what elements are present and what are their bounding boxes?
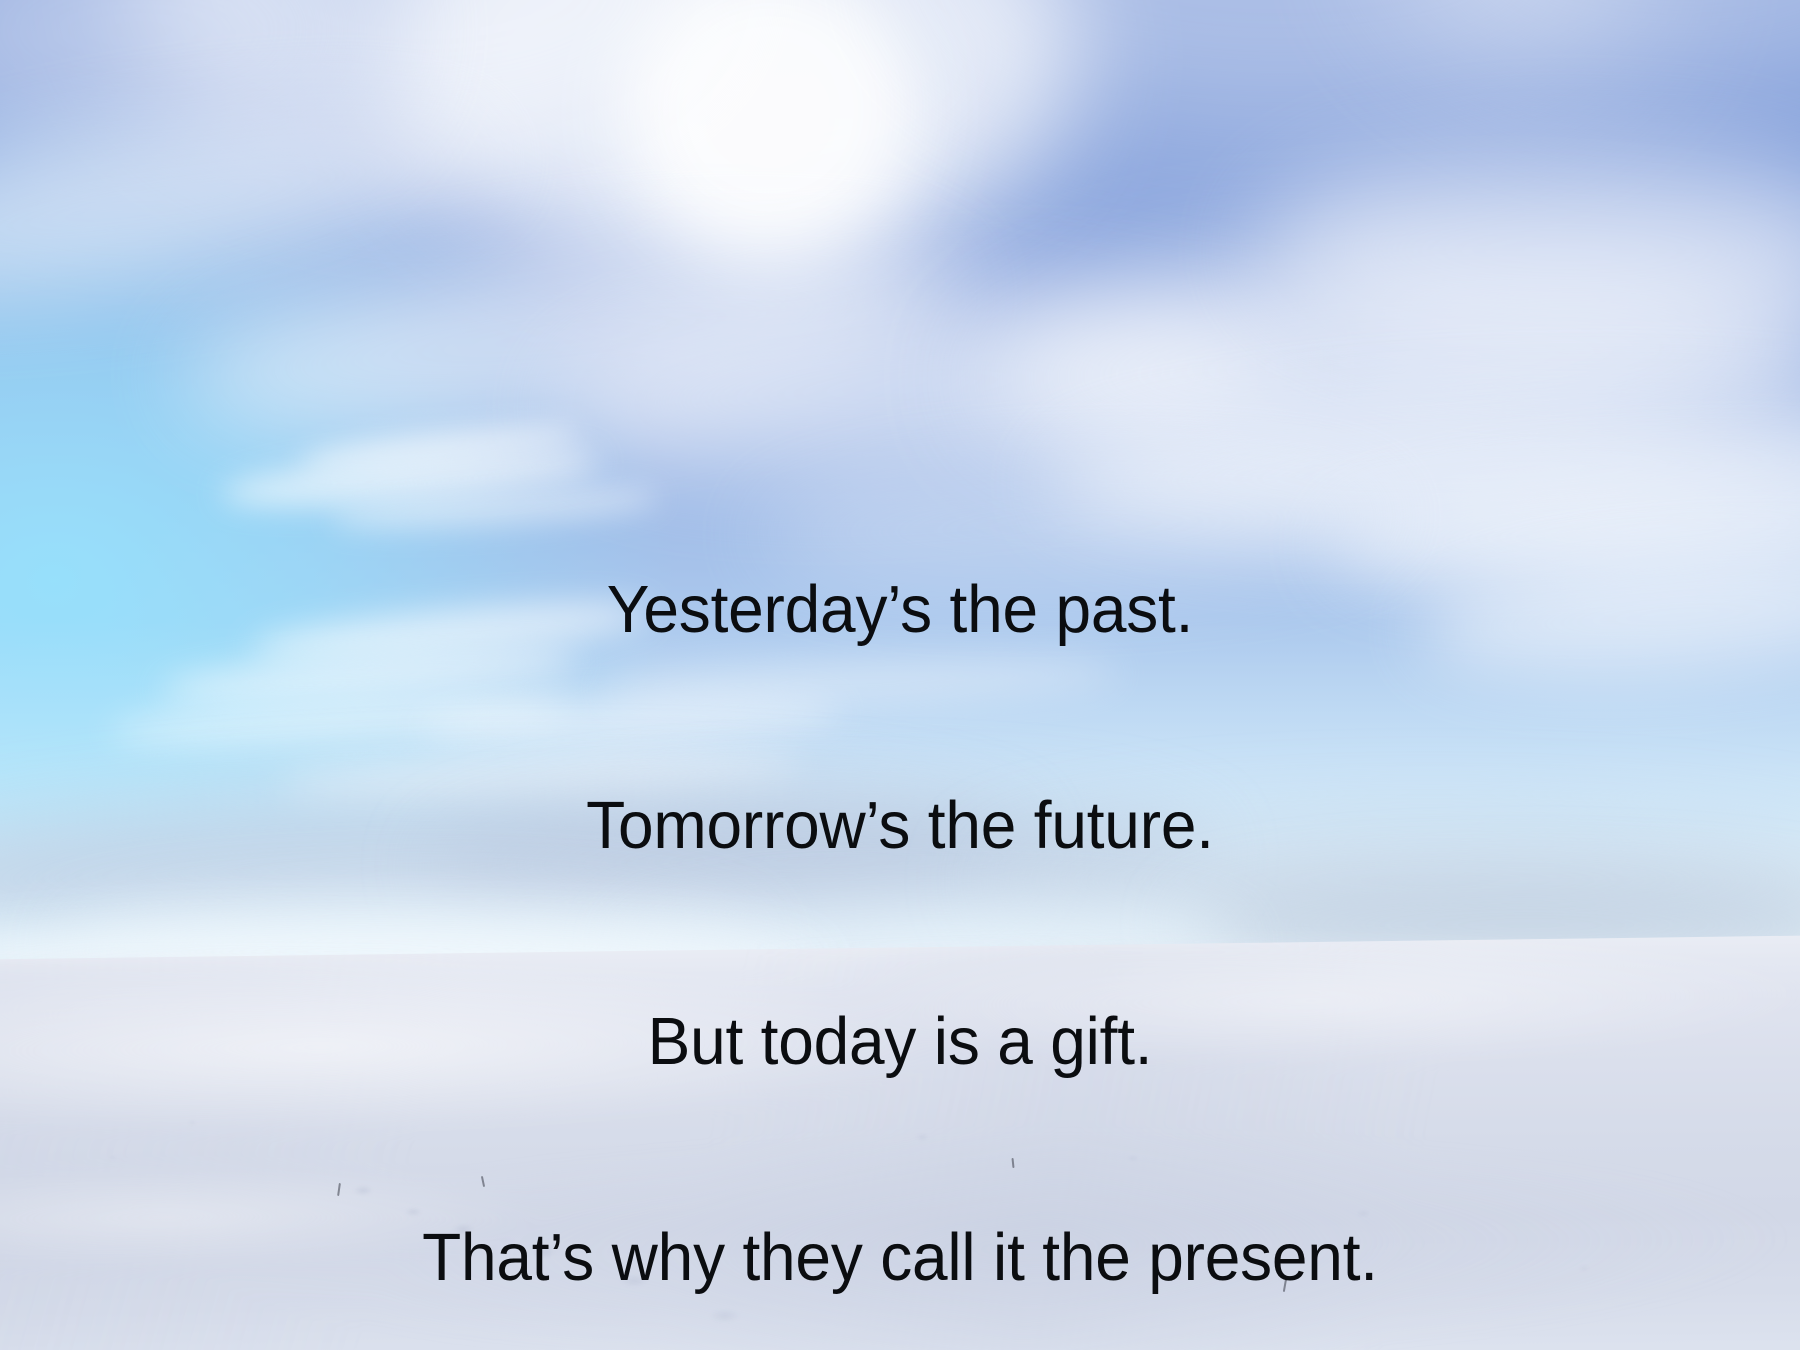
quote-line-2: Tomorrow’s the future. [41, 790, 1760, 862]
quote-text-block: Yesterday’s the past. Tomorrow’s the fut… [41, 430, 1760, 1350]
quote-line-3: But today is a gift. [41, 1006, 1760, 1078]
quote-image: Yesterday’s the past. Tomorrow’s the fut… [0, 0, 1800, 1350]
quote-line-1: Yesterday’s the past. [41, 574, 1760, 646]
quote-line-4: That’s why they call it the present. [41, 1222, 1760, 1294]
